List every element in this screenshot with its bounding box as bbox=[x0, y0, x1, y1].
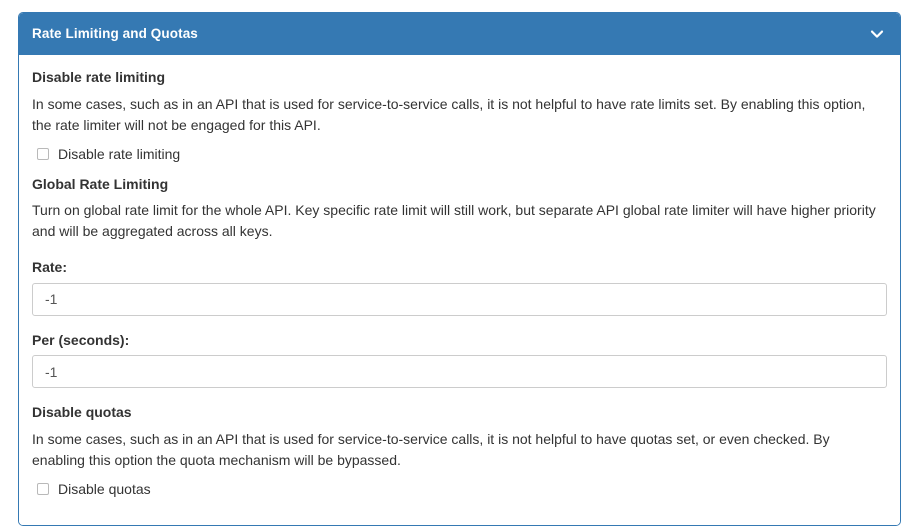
disable-quotas-checkbox[interactable] bbox=[37, 483, 49, 495]
disable-quotas-checkbox-label: Disable quotas bbox=[58, 480, 151, 498]
global-rate-limiting-description: Turn on global rate limit for the whole … bbox=[32, 200, 880, 242]
disable-rate-limiting-description: In some cases, such as in an API that is… bbox=[32, 94, 880, 136]
section-disable-quotas: Disable quotas In some cases, such as in… bbox=[32, 404, 887, 498]
panel-body: Disable rate limiting In some cases, suc… bbox=[19, 55, 900, 525]
per-seconds-field-label: Per (seconds): bbox=[32, 332, 887, 350]
disable-rate-limiting-heading: Disable rate limiting bbox=[32, 69, 887, 87]
global-rate-limiting-heading: Global Rate Limiting bbox=[32, 176, 887, 194]
spacer bbox=[32, 251, 887, 259]
page-root: Rate Limiting and Quotas Disable rate li… bbox=[0, 0, 919, 528]
spacer bbox=[32, 388, 887, 404]
disable-rate-limiting-checkbox[interactable] bbox=[37, 148, 49, 160]
disable-quotas-description: In some cases, such as in an API that is… bbox=[32, 429, 880, 471]
rate-field-label: Rate: bbox=[32, 259, 887, 277]
rate-input[interactable] bbox=[32, 283, 887, 316]
disable-rate-limiting-checkbox-row[interactable]: Disable rate limiting bbox=[32, 145, 887, 163]
section-global-rate-limiting: Global Rate Limiting Turn on global rate… bbox=[32, 176, 887, 389]
section-disable-rate-limiting: Disable rate limiting In some cases, suc… bbox=[32, 69, 887, 163]
disable-quotas-checkbox-row[interactable]: Disable quotas bbox=[32, 480, 887, 498]
disable-quotas-heading: Disable quotas bbox=[32, 404, 887, 422]
per-seconds-input[interactable] bbox=[32, 355, 887, 388]
panel-title: Rate Limiting and Quotas bbox=[32, 27, 198, 41]
spacer bbox=[32, 316, 887, 332]
rate-limiting-panel: Rate Limiting and Quotas Disable rate li… bbox=[18, 12, 901, 526]
panel-header-toggle[interactable]: Rate Limiting and Quotas bbox=[19, 13, 900, 55]
spacer bbox=[32, 168, 887, 176]
chevron-down-icon[interactable] bbox=[868, 25, 886, 43]
disable-rate-limiting-checkbox-label: Disable rate limiting bbox=[58, 145, 180, 163]
